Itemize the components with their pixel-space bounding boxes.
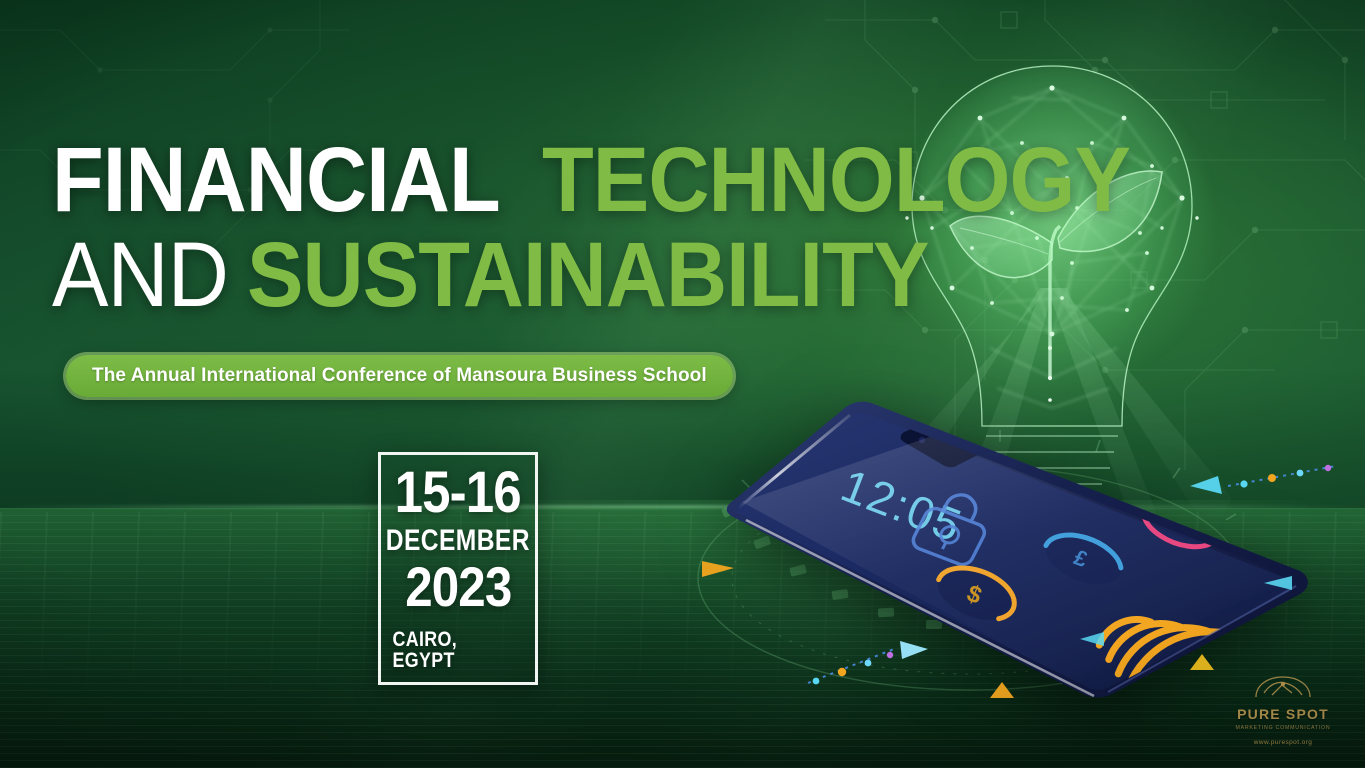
subtitle-text: The Annual International Conference of M… [92,365,707,387]
headline-word-technology: TECHNOLOGY [542,140,1130,221]
brand-logo[interactable]: PURE SPOT MARKETING COMMUNICATION www.pu… [1223,673,1343,746]
headline-line-2: AND SUSTAINABILITY [52,235,912,316]
date-month: DECEMBER [386,526,530,556]
pure-spot-emblem-icon [1252,673,1314,703]
headline-word-and: AND [52,235,228,316]
date-year: 2023 [405,560,511,615]
headline-word-financial: FINANCIAL [52,140,500,221]
subtitle-pill: The Annual International Conference of M… [66,355,733,397]
date-days: 15-16 [395,466,521,521]
headline-word-sustainability: SUSTAINABILITY [247,235,928,316]
poster-headline: FINANCIAL TECHNOLOGY AND SUSTAINABILITY [52,140,912,316]
conference-poster: 12:05 $ £ [0,0,1365,768]
phone-device-icon: 12:05 $ £ [690,380,1310,720]
headline-line-1: FINANCIAL TECHNOLOGY [52,140,912,221]
date-location: CAIRO, EGYPT [393,629,524,671]
smartphone-illustration: 12:05 $ £ [690,380,1310,740]
date-location-box: 15-16 DECEMBER 2023 CAIRO, EGYPT [378,452,538,685]
bulb-glow [902,68,1212,398]
brand-name: PURE SPOT [1237,706,1329,722]
brand-url: www.purespot.org [1254,739,1312,746]
brand-tagline: MARKETING COMMUNICATION [1236,725,1331,731]
